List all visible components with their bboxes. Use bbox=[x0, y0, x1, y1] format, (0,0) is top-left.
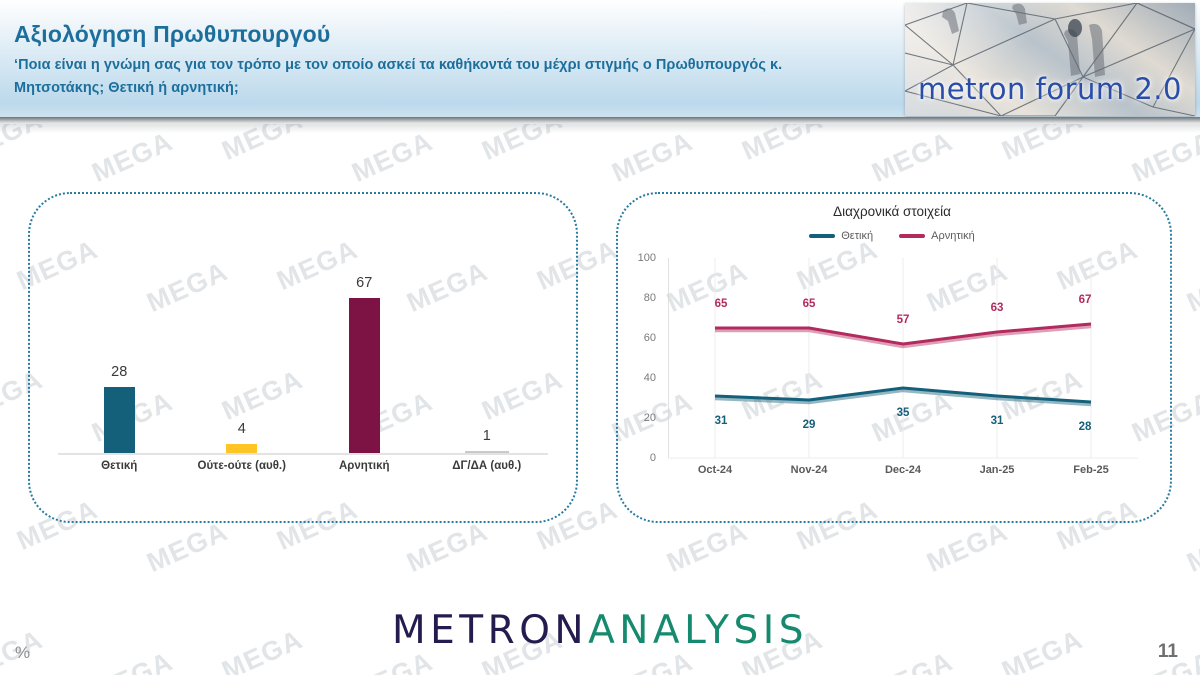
slide-header: Αξιολόγηση Πρωθυπουργού ‘Ποια είναι η γν… bbox=[0, 0, 1200, 118]
x-axis-tick-label: Jan-25 bbox=[980, 464, 1015, 476]
bar-column: 28 bbox=[58, 275, 181, 453]
legend-item[interactable]: Αρνητική bbox=[899, 230, 975, 242]
data-point-label: 35 bbox=[897, 407, 910, 419]
data-point-label: 29 bbox=[803, 419, 816, 431]
bar-category-label: Θετική bbox=[58, 460, 181, 472]
watermark-text: MEGA bbox=[922, 516, 1012, 579]
x-axis-tick-label: Feb-25 bbox=[1073, 464, 1108, 476]
bar-category-label: Ούτε-ούτε (αυθ.) bbox=[181, 460, 304, 472]
bar-chart: 284671 ΘετικήΟύτε-ούτε (αυθ.)ΑρνητικήΔΓ/… bbox=[58, 275, 548, 480]
bar-plot-area: 284671 bbox=[58, 275, 548, 453]
bar-category-label: ΔΓ/ΔΑ (αυθ.) bbox=[426, 460, 549, 472]
data-point-label: 31 bbox=[715, 415, 728, 427]
bar-category-label: Αρνητική bbox=[303, 460, 426, 472]
metron-analysis-logo: METRONANALYSIS bbox=[0, 608, 1200, 653]
legend-label: Θετική bbox=[841, 230, 873, 242]
page-number: 11 bbox=[1158, 641, 1178, 663]
line-chart: Διαχρονικά στοιχεία ΘετικήΑρνητική Oct-2… bbox=[626, 198, 1158, 498]
watermark-text: MEGA bbox=[1182, 516, 1200, 579]
watermark-text: MEGA bbox=[867, 126, 957, 189]
data-point-label: 65 bbox=[715, 298, 728, 310]
bar-category-labels: ΘετικήΟύτε-ούτε (αυθ.)ΑρνητικήΔΓ/ΔΑ (αυθ… bbox=[58, 460, 548, 472]
bar-rect bbox=[104, 387, 135, 453]
line-chart-title: Διαχρονικά στοιχεία bbox=[626, 204, 1158, 219]
page-title: Αξιολόγηση Πρωθυπουργού bbox=[14, 22, 874, 47]
bar-value-label: 1 bbox=[483, 428, 491, 444]
header-shadow bbox=[0, 124, 1200, 133]
y-axis-tick-label: 40 bbox=[596, 372, 656, 384]
bar-rect bbox=[349, 298, 380, 453]
x-axis-tick-label: Dec-24 bbox=[885, 464, 921, 476]
legend-item[interactable]: Θετική bbox=[809, 230, 873, 242]
line-plot-wrap: Oct-24Nov-24Dec-24Jan-25Feb-253129353128… bbox=[626, 258, 1158, 473]
header-divider bbox=[0, 117, 1200, 124]
watermark-text: MEGA bbox=[402, 516, 492, 579]
metron-forum-logo: metron forum 2.0 bbox=[905, 3, 1195, 116]
watermark-text: MEGA bbox=[347, 126, 437, 189]
line-series-svg bbox=[668, 258, 1138, 464]
y-axis-tick-label: 60 bbox=[596, 332, 656, 344]
y-axis-tick-label: 0 bbox=[596, 452, 656, 464]
watermark-text: MEGA bbox=[1127, 126, 1200, 189]
legend-swatch-icon bbox=[809, 234, 835, 238]
y-axis-tick-label: 100 bbox=[596, 252, 656, 264]
bar-column: 1 bbox=[426, 275, 549, 453]
y-axis-tick-label: 20 bbox=[596, 412, 656, 424]
watermark-text: MEGA bbox=[662, 516, 752, 579]
brand-metron: METRON bbox=[392, 608, 588, 653]
x-axis-tick-label: Nov-24 bbox=[791, 464, 828, 476]
data-point-label: 57 bbox=[897, 314, 910, 326]
data-point-label: 31 bbox=[991, 415, 1004, 427]
data-point-label: 28 bbox=[1079, 421, 1092, 433]
data-point-label: 67 bbox=[1079, 294, 1092, 306]
line-plot-area: Oct-24Nov-24Dec-24Jan-25Feb-253129353128… bbox=[668, 258, 1138, 458]
data-point-label: 63 bbox=[991, 302, 1004, 314]
bar-value-label: 4 bbox=[238, 421, 246, 437]
page-subtitle: ‘Ποια είναι η γνώμη σας για τον τρόπο με… bbox=[14, 54, 874, 99]
bar-axis-baseline bbox=[58, 453, 548, 455]
bar-column: 4 bbox=[181, 275, 304, 453]
y-axis-tick-label: 80 bbox=[596, 292, 656, 304]
legend-label: Αρνητική bbox=[931, 230, 975, 242]
data-point-label: 65 bbox=[803, 298, 816, 310]
bar-value-label: 67 bbox=[356, 275, 372, 291]
watermark-text: MEGA bbox=[1182, 256, 1200, 319]
legend-swatch-icon bbox=[899, 234, 925, 238]
bar-value-label: 28 bbox=[111, 364, 127, 380]
logo-text: metron forum 2.0 bbox=[905, 72, 1195, 106]
title-block: Αξιολόγηση Πρωθυπουργού ‘Ποια είναι η γν… bbox=[14, 22, 874, 99]
bar-rect bbox=[226, 444, 257, 453]
x-axis-tick-label: Oct-24 bbox=[698, 464, 732, 476]
brand-analysis: ANALYSIS bbox=[588, 608, 808, 653]
bar-column: 67 bbox=[303, 275, 426, 453]
line-chart-legend: ΘετικήΑρνητική bbox=[626, 230, 1158, 242]
watermark-text: MEGA bbox=[142, 516, 232, 579]
watermark-text: MEGA bbox=[607, 126, 697, 189]
watermark-text: MEGA bbox=[87, 126, 177, 189]
